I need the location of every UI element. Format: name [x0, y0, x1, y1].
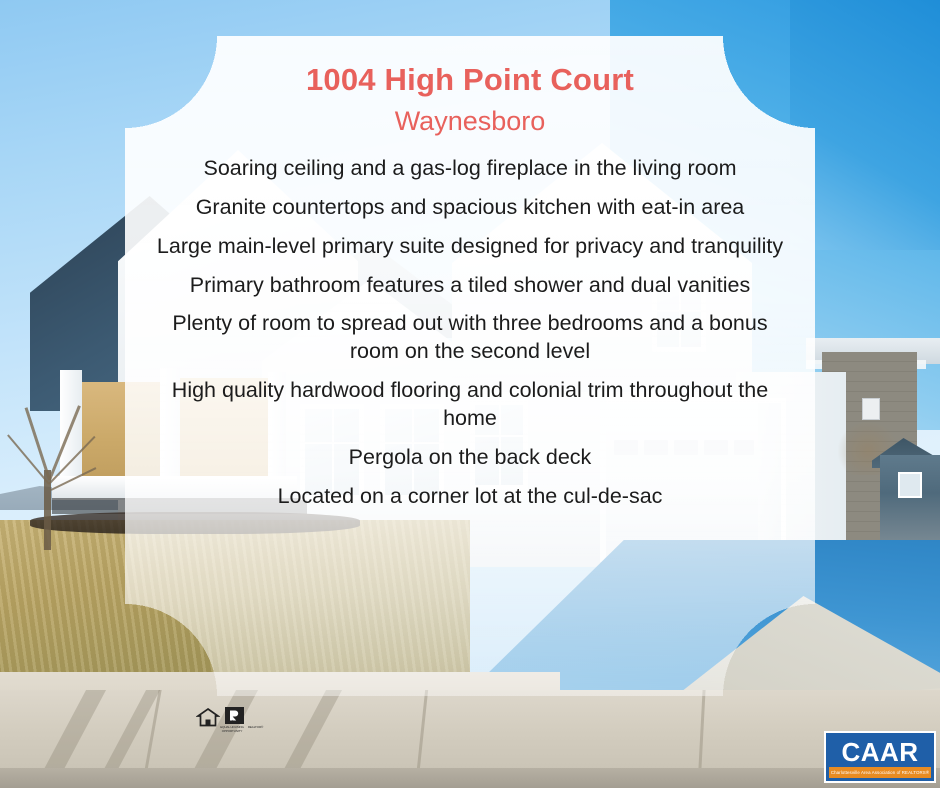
page-title: 1004 High Point Court — [306, 62, 634, 98]
feature-item: Located on a corner lot at the cul-de-sa… — [152, 483, 788, 511]
neighbor-house — [880, 455, 940, 550]
feature-list: Soaring ceiling and a gas-log fireplace … — [152, 155, 788, 522]
feature-item: High quality hardwood flooring and colon… — [152, 377, 788, 433]
equal-housing-opportunity-icon: EQUAL HOUSING OPPORTUNITY — [196, 706, 220, 730]
info-card-content: 1004 High Point Court Waynesboro Soaring… — [125, 36, 815, 696]
feature-item: Pergola on the back deck — [152, 444, 788, 472]
listing-flyer: 1004 High Point Court Waynesboro Soaring… — [0, 0, 940, 788]
feature-item: Plenty of room to spread out with three … — [152, 310, 788, 366]
caar-wordmark: CAAR — [841, 739, 918, 765]
realtor-logo-icon: REALTOR® — [224, 706, 245, 730]
street — [0, 768, 940, 788]
city-subtitle: Waynesboro — [395, 106, 546, 137]
feature-item: Soaring ceiling and a gas-log fireplace … — [152, 155, 788, 183]
compliance-icons: EQUAL HOUSING OPPORTUNITY REALTOR® — [196, 706, 248, 732]
feature-item: Primary bathroom features a tiled shower… — [152, 272, 788, 300]
caar-tagline: Charlottesville Area Association of REAL… — [829, 767, 931, 778]
realtor-caption: REALTOR® — [245, 725, 266, 729]
feature-item: Large main-level primary suite designed … — [152, 233, 788, 261]
caar-logo: CAAR Charlottesville Area Association of… — [824, 731, 936, 783]
feature-item: Granite countertops and spacious kitchen… — [152, 194, 788, 222]
neighbor-window — [898, 472, 922, 498]
